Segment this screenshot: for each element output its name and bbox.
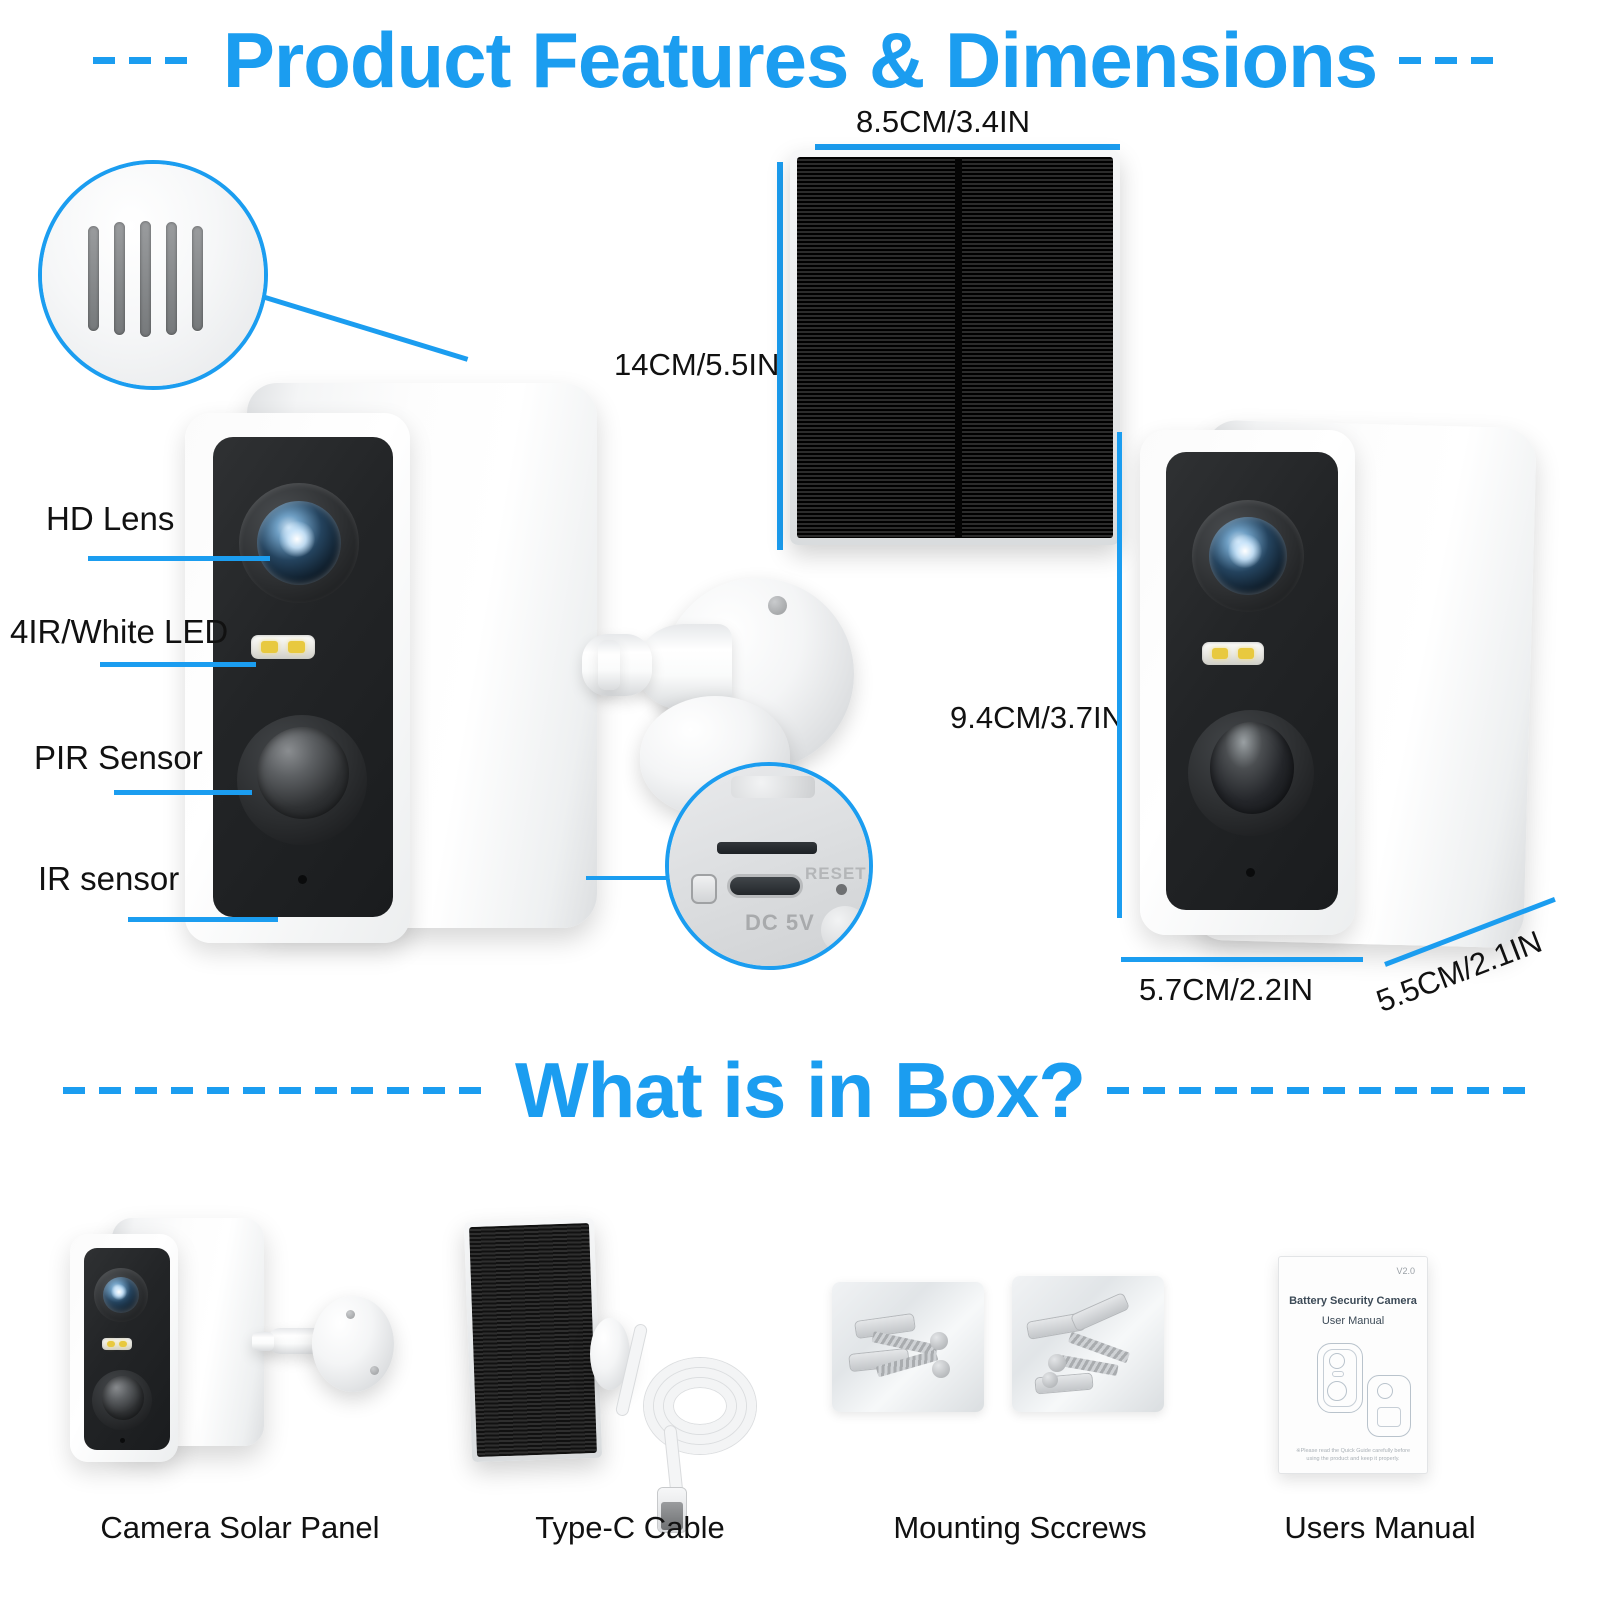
led-dot (107, 1341, 115, 1347)
manual-led-outline (1332, 1371, 1344, 1377)
sd-card-slot (717, 842, 817, 854)
box-dash-right (1107, 1087, 1537, 1094)
box-item-camera-solar-panel: Camera Solar Panel (40, 1200, 440, 1590)
box-section-header: What is in Box? (0, 1045, 1600, 1135)
port-bay-screw-boss (821, 906, 869, 954)
mount-screw-hole (768, 596, 787, 615)
grille-background (42, 164, 264, 386)
hd-lens-highlight (1228, 534, 1262, 568)
screw-bag (832, 1282, 984, 1412)
box-mount-knuckle (252, 1332, 274, 1351)
screw-bag (1012, 1276, 1164, 1412)
ir-white-led-bar (251, 635, 315, 659)
grille-slot (166, 222, 177, 335)
grille-slot (192, 226, 203, 331)
leader-pir-sensor (114, 790, 252, 795)
wall-anchor (1071, 1293, 1129, 1330)
box-label-mounting-screws: Mounting Sccrews (820, 1510, 1220, 1546)
camera-height-dimension: 9.4CM/3.7IN (950, 700, 1124, 736)
leader-hd-lens (88, 556, 270, 561)
camera-width-rule (1121, 957, 1363, 962)
led-dot (288, 641, 305, 652)
box-item-users-manual: V2.0 Battery Security Camera User Manual… (1180, 1200, 1580, 1590)
solar-width-dimension: 8.5CM/3.4IN (856, 104, 1030, 140)
screw (1059, 1355, 1118, 1376)
header-dash-left (93, 57, 201, 64)
box-label-camera-solar-panel: Camera Solar Panel (40, 1510, 440, 1546)
user-manual-cover: V2.0 Battery Security Camera User Manual… (1278, 1256, 1428, 1474)
port-bay-tab (731, 776, 815, 798)
box-dash-left (63, 1087, 493, 1094)
features-section-header: Product Features & Dimensions (0, 14, 1600, 106)
camera-width-dimension: 5.7CM/2.2IN (1139, 972, 1313, 1008)
screw-head (1042, 1372, 1058, 1388)
box-item-type-c-cable: Type-C Cable (430, 1200, 830, 1590)
led-dot (1238, 648, 1254, 659)
camera-height-rule (1117, 432, 1122, 918)
hd-lens-highlight (279, 521, 315, 557)
box-label-users-manual: Users Manual (1180, 1510, 1580, 1546)
usb-c-port (727, 874, 803, 898)
ir-sensor-hole (298, 875, 307, 884)
grille-slot (114, 222, 125, 335)
reset-label: RESET (805, 864, 867, 884)
box-solar-panel-cells (469, 1223, 597, 1457)
solar-panel-cells (797, 157, 1113, 538)
mount-arm-knuckle (598, 640, 620, 690)
screw-head (1048, 1354, 1066, 1372)
box-item-mounting-screws: Mounting Sccrews (820, 1200, 1220, 1590)
box-solar-panel (464, 1218, 602, 1462)
manual-title: Battery Security Camera (1279, 1295, 1427, 1307)
box-title: What is in Box? (515, 1045, 1085, 1135)
led-dot (1212, 648, 1228, 659)
manual-version: V2.0 (1396, 1266, 1415, 1276)
label-ir-sensor: IR sensor (38, 860, 179, 898)
features-title: Product Features & Dimensions (223, 14, 1377, 106)
pir-sensor-dome (1210, 722, 1294, 814)
box-mount-screw-hole (370, 1366, 379, 1375)
box-label-type-c-cable: Type-C Cable (430, 1510, 830, 1546)
manual-back-lens-outline (1377, 1383, 1393, 1399)
solar-height-dimension: 14CM/5.5IN (614, 347, 779, 383)
header-dash-right (1399, 57, 1507, 64)
dimension-camera (1140, 410, 1540, 970)
pir-sensor-dome (257, 727, 349, 819)
manual-footer-text: ※Please read the Quick Guide carefully b… (1289, 1447, 1417, 1464)
cable-coil (664, 1378, 736, 1434)
manual-back-panel-outline (1377, 1407, 1401, 1427)
manual-subtitle: User Manual (1279, 1315, 1427, 1327)
ir-sensor-hole (1246, 868, 1255, 877)
hd-lens-highlight (111, 1284, 127, 1300)
speaker-callout-leader (261, 294, 468, 362)
leader-ir-white-led (100, 662, 256, 667)
dc-5v-label: DC 5V (745, 910, 815, 936)
solar-panel-divider (955, 157, 962, 538)
box-mount-screw-hole (346, 1310, 355, 1319)
screw-head (932, 1360, 950, 1378)
led-dot (119, 1341, 127, 1347)
ir-white-led-bar (1202, 642, 1264, 665)
label-hd-lens: HD Lens (46, 500, 174, 538)
solar-panel (790, 150, 1120, 545)
port-bay-callout: RESET DC 5V (665, 762, 873, 970)
leader-ir-sensor (128, 917, 278, 922)
speaker-grille-callout (38, 160, 268, 390)
ir-white-led-bar (102, 1338, 132, 1350)
solar-height-rule (777, 162, 783, 550)
grille-slot (88, 226, 99, 331)
main-camera (185, 365, 605, 955)
manual-lens-outline (1329, 1353, 1345, 1369)
label-ir-white-led: 4IR/White LED (10, 613, 228, 651)
label-pir-sensor: PIR Sensor (34, 739, 203, 777)
led-dot (261, 641, 278, 652)
pir-sensor-dome (102, 1376, 144, 1420)
ir-sensor-hole (120, 1438, 125, 1443)
power-button[interactable] (691, 874, 717, 904)
screw-head (930, 1332, 948, 1350)
grille-slot (140, 221, 151, 337)
reset-hole (836, 884, 847, 895)
manual-pir-outline (1327, 1381, 1347, 1401)
